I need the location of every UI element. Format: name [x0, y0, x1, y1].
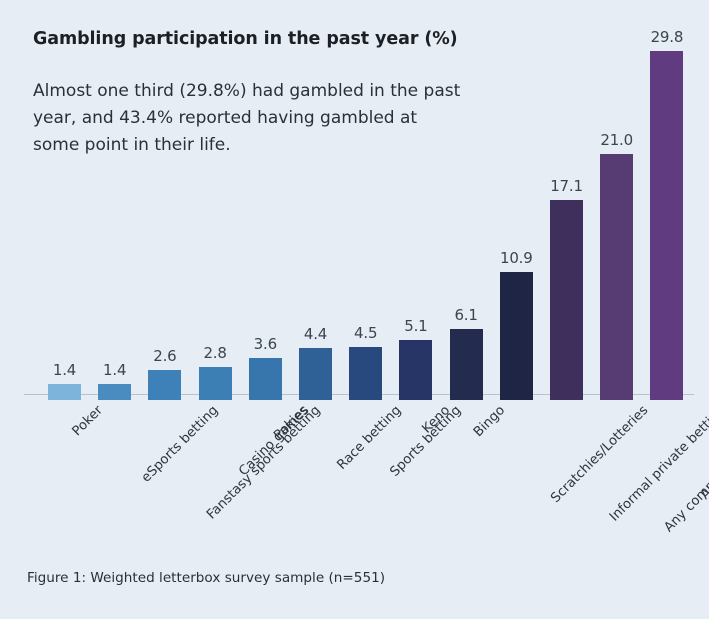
- x-axis-label: eSports betting: [139, 403, 222, 486]
- bar-3: 2.6: [148, 6, 181, 400]
- bar-4: 2.8: [199, 6, 232, 400]
- bar-2: 1.4: [98, 6, 131, 400]
- bar-rect: [600, 154, 633, 400]
- bar-13: 29.8: [650, 6, 683, 400]
- bar-rect: [500, 272, 533, 400]
- bar-11: 17.1: [550, 6, 583, 400]
- x-axis-label: Fanstasy sports betting: [204, 403, 324, 523]
- plot-area: 1.41.42.62.83.64.44.55.16.110.917.121.02…: [0, 0, 709, 400]
- bar-value-label: 17.1: [536, 177, 597, 195]
- bar-6: 4.4: [299, 6, 332, 400]
- bar-rect: [650, 51, 683, 400]
- bar-value-label: 29.8: [636, 28, 697, 46]
- bar-rect: [199, 367, 232, 400]
- bar-rect: [148, 370, 181, 400]
- bar-rect: [98, 384, 131, 400]
- x-axis-label: Poker: [69, 403, 105, 439]
- bar-rect: [249, 358, 282, 400]
- bar-9: 6.1: [450, 6, 483, 400]
- bar-rect: [299, 348, 332, 400]
- chart-figure: Gambling participation in the past year …: [0, 0, 709, 619]
- bar-value-label: 21.0: [586, 131, 647, 149]
- bar-rect: [399, 340, 432, 400]
- x-axis-label: Bingo: [471, 403, 508, 440]
- bar-rect: [48, 384, 81, 400]
- bar-value-label: 6.1: [436, 306, 497, 324]
- bar-12: 21.0: [600, 6, 633, 400]
- bar-10: 10.9: [500, 6, 533, 400]
- bar-5: 3.6: [249, 6, 282, 400]
- bar-value-label: 10.9: [486, 249, 547, 267]
- bar-1: 1.4: [48, 6, 81, 400]
- bar-rect: [450, 329, 483, 400]
- bar-rect: [349, 347, 382, 400]
- bar-8: 5.1: [399, 6, 432, 400]
- figure-caption: Figure 1: Weighted letterbox survey samp…: [27, 570, 385, 586]
- bar-7: 4.5: [349, 6, 382, 400]
- bar-rect: [550, 200, 583, 400]
